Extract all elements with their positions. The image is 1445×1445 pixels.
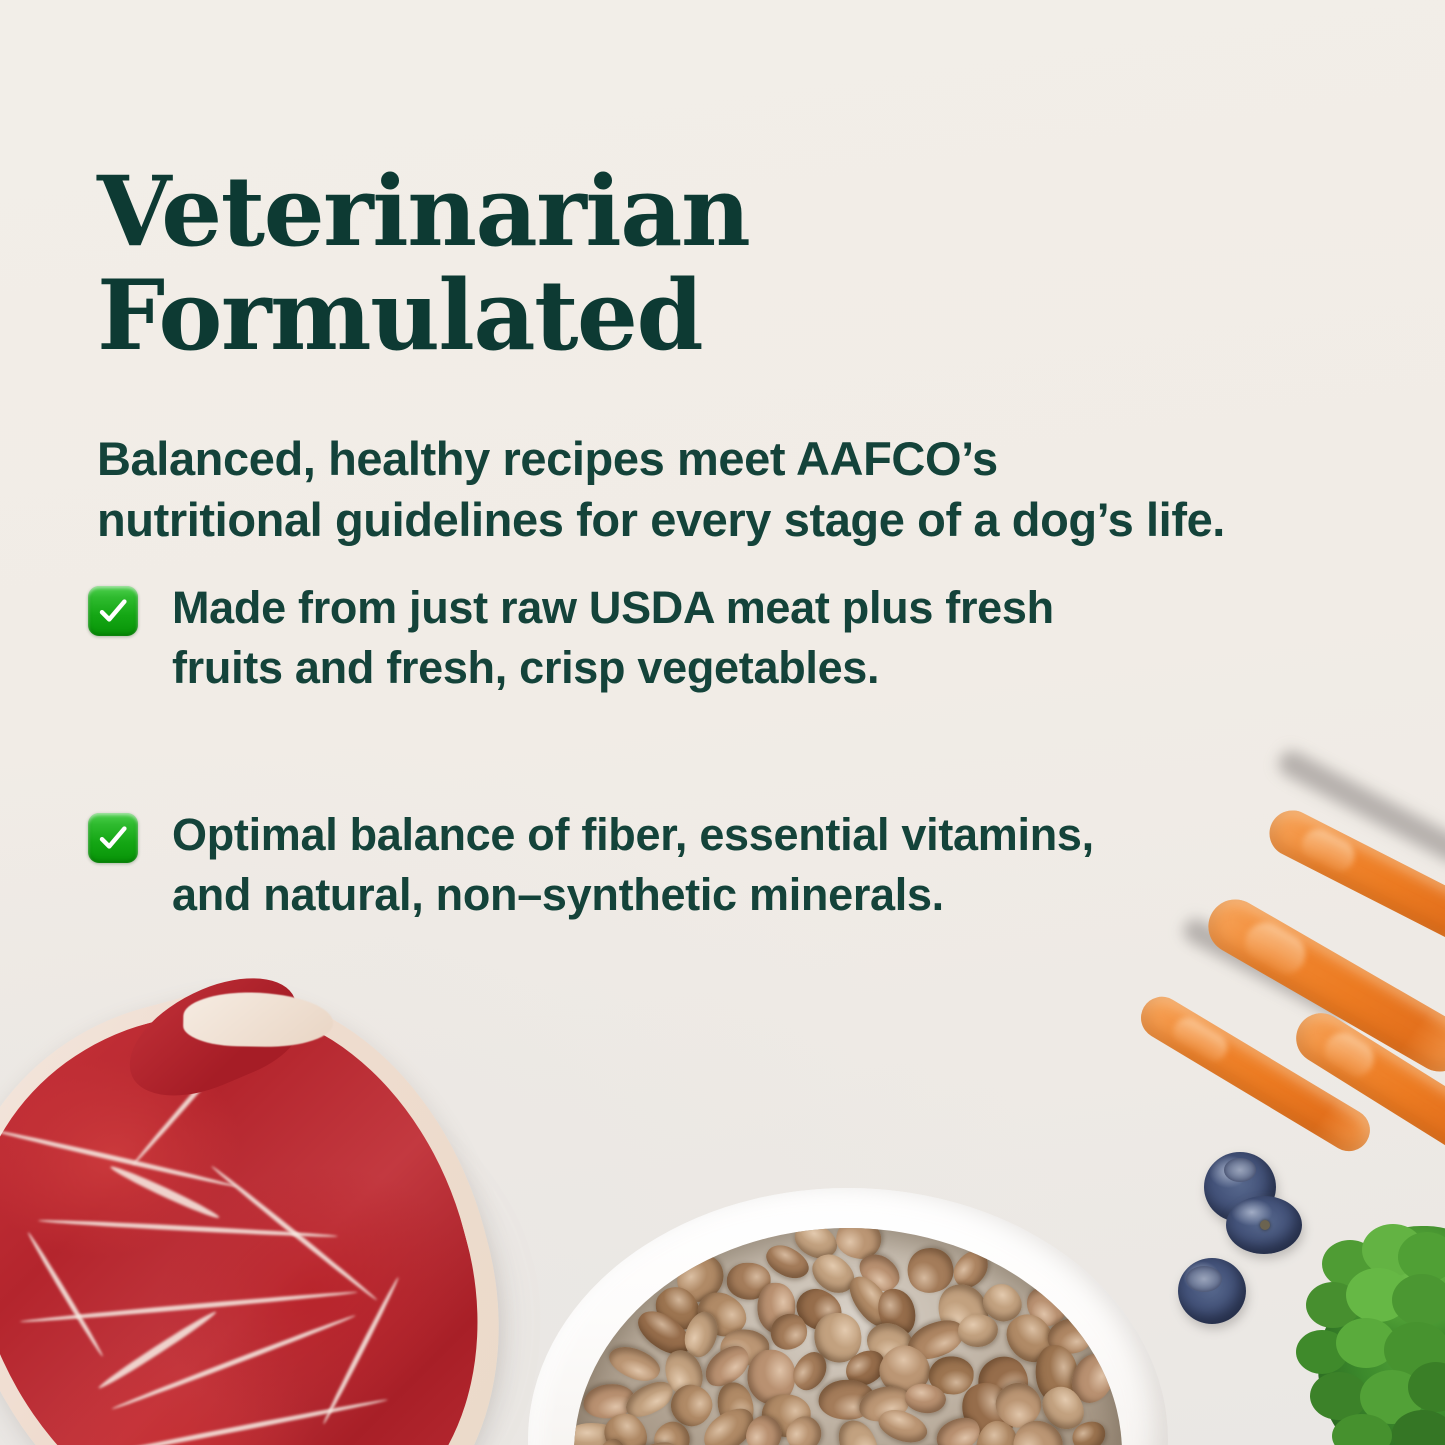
list-item: Optimal balance of fiber, essential vita… xyxy=(88,805,1378,926)
list-item: Made from just raw USDA meat plus fresh … xyxy=(88,578,1378,699)
benefit-list: Made from just raw USDA meat plus fresh … xyxy=(88,578,1378,1031)
green-check-icon xyxy=(88,813,138,863)
lede-paragraph: Balanced, healthy recipes meet AAFCO’s n… xyxy=(97,428,1372,550)
product-feature-card: Veterinarian Formulated Balanced, health… xyxy=(0,0,1445,1445)
page-title: Veterinarian Formulated xyxy=(97,160,1097,367)
benefit-text: Made from just raw USDA meat plus fresh … xyxy=(172,578,1054,699)
benefit-text: Optimal balance of fiber, essential vita… xyxy=(172,805,1094,926)
text-content: Veterinarian Formulated Balanced, health… xyxy=(0,0,1445,1445)
green-check-icon xyxy=(88,586,138,636)
